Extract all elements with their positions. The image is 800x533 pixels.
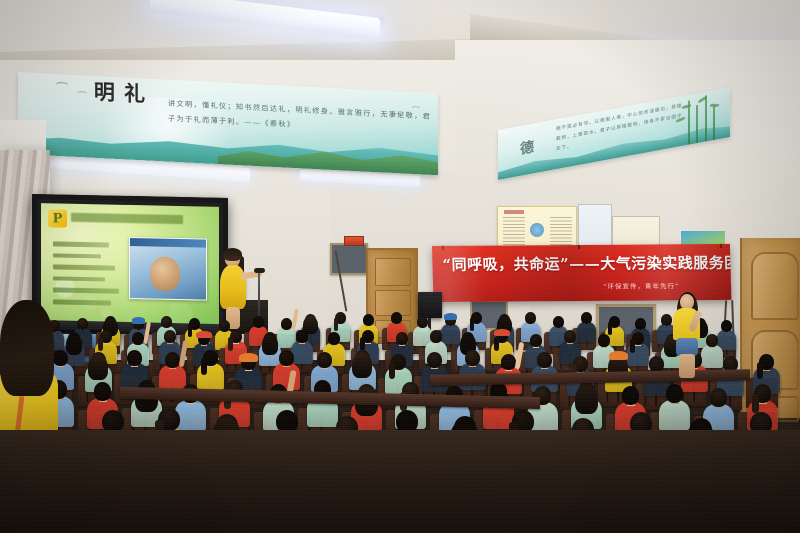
child-cap-icon xyxy=(444,313,458,319)
child-head xyxy=(164,330,177,343)
exit-sign xyxy=(344,236,364,246)
bamboo-leaf-icon xyxy=(710,103,719,107)
child-head xyxy=(501,354,516,370)
presenter-dress xyxy=(220,265,246,309)
child-ponytail xyxy=(201,358,207,375)
bird-icon xyxy=(77,90,87,95)
child-head xyxy=(537,352,552,368)
child-head xyxy=(253,316,264,328)
bird-icon xyxy=(391,111,402,117)
seated-child xyxy=(272,350,301,389)
door-panel xyxy=(751,252,799,320)
child-head xyxy=(77,318,88,330)
bamboo-icon xyxy=(705,95,707,141)
child-head xyxy=(132,332,145,345)
child-head xyxy=(721,320,732,332)
child-cap-icon xyxy=(494,329,509,336)
child-cap-icon xyxy=(239,353,257,361)
child-ponytail xyxy=(494,337,499,351)
child-long-hair xyxy=(575,385,599,414)
child-head xyxy=(564,330,577,343)
child-head xyxy=(127,350,142,366)
volunteer-legs xyxy=(679,354,695,378)
slide-bullet xyxy=(53,276,105,282)
presenter-hair xyxy=(223,248,242,261)
slide-bullet xyxy=(53,288,119,294)
child-head xyxy=(666,384,684,403)
child-ponytail xyxy=(360,337,365,351)
slide-logo-icon: P xyxy=(48,209,67,227)
child-ponytail xyxy=(757,362,763,379)
child-head xyxy=(465,350,480,366)
child-ponytail xyxy=(98,337,103,351)
child-head xyxy=(622,386,640,405)
photo-scene: 明 礼 讲文明，懂礼仪；知书然后达礼，明礼修身。雅言雅行，无事足敬，君子为于礼而… xyxy=(0,0,800,533)
child-long-hair xyxy=(88,355,108,380)
child-head xyxy=(279,350,294,366)
child-head xyxy=(427,352,442,368)
slide-bullet xyxy=(53,241,109,247)
child-long-hair xyxy=(352,353,372,378)
child-ponytail xyxy=(389,362,395,379)
volunteer-yellow-shirt-standing xyxy=(668,294,706,376)
child-head xyxy=(706,334,719,347)
child-head xyxy=(649,356,664,372)
child-ponytail xyxy=(470,318,474,330)
floor xyxy=(0,430,800,533)
slide-photo-header xyxy=(130,238,206,248)
child-head xyxy=(710,388,728,407)
child-cap-icon xyxy=(132,317,146,323)
child-head xyxy=(553,316,564,328)
child-cap-icon xyxy=(609,351,627,359)
microphone-icon xyxy=(254,268,265,273)
child-ponytail xyxy=(334,318,338,330)
child-head xyxy=(165,352,180,368)
slide-photo xyxy=(129,237,207,301)
child-head xyxy=(581,312,592,324)
child-head xyxy=(635,318,646,330)
child-ponytail xyxy=(608,322,612,334)
seated-child xyxy=(348,350,377,389)
child-head xyxy=(317,352,332,368)
child-head xyxy=(363,314,374,326)
bamboo-icon xyxy=(713,106,715,140)
child-head xyxy=(281,318,292,330)
slide-bullet xyxy=(53,253,101,259)
child-head xyxy=(417,316,428,328)
bamboo-icon xyxy=(696,105,698,143)
speaker-box xyxy=(418,292,442,318)
child-head xyxy=(328,332,341,345)
child-head xyxy=(430,330,443,343)
bird-icon xyxy=(56,80,68,87)
child-head xyxy=(296,330,309,343)
presentation-slide: P xyxy=(41,203,219,327)
slide-title-text xyxy=(71,213,201,225)
child-ponytail xyxy=(752,394,759,414)
child-head xyxy=(94,382,112,401)
bird-icon xyxy=(412,105,420,110)
child-head xyxy=(598,334,611,347)
banner2-big-character: 德 xyxy=(520,136,534,159)
child-head xyxy=(391,312,402,324)
child-head xyxy=(396,332,409,345)
child-ponytail xyxy=(228,337,233,351)
poster-title-band xyxy=(504,210,570,214)
volunteer-long-hair xyxy=(0,300,54,396)
seated-child xyxy=(530,352,559,391)
poster-logo-icon xyxy=(530,223,544,237)
slide-bullet xyxy=(53,265,115,271)
red-banner-sub-text: “环保宣传，青年先行” xyxy=(603,280,723,291)
child-ponytail xyxy=(630,339,635,353)
door-panel xyxy=(375,258,411,286)
child-cap-icon xyxy=(196,331,211,338)
slide-photo-subject xyxy=(150,256,180,291)
child-head xyxy=(530,334,543,347)
bird-icon xyxy=(94,81,102,86)
child-head xyxy=(525,312,536,324)
child-head xyxy=(161,316,172,328)
red-banner-main-text: “同呼吸，共命运”——大气污染实践服务团 xyxy=(442,252,722,275)
